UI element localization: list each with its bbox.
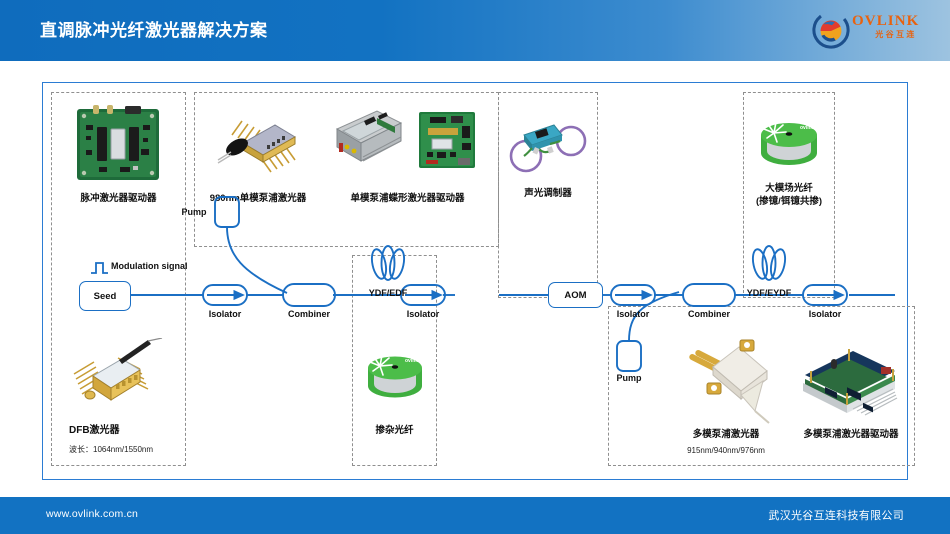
logo-english: OVLINK [852,13,938,29]
footer-website-url[interactable]: www.ovlink.com.cn [46,508,138,520]
ovlink-swirl-icon [812,11,850,49]
aom-label: AOM [564,290,586,301]
label-pulse-laser-driver: 脉冲激光器驱动器 [51,193,186,205]
gain-fiber-1-label: YDF/EDF [353,288,423,298]
svg-text:ovlink: ovlink [800,125,815,131]
gain-fiber-2-label: YDF/EYDF [734,288,804,298]
photo-acousto-optic-modulator [504,111,592,177]
svg-text:ovlink: ovlink [405,358,420,364]
logo-chinese: 光谷互连 [852,29,938,40]
isolator-3-label: Isolator [603,309,663,319]
photo-dfb-laser [70,338,170,416]
label-doped-fiber: 掺杂光纤 [352,425,437,437]
isolator-4-label: Isolator [795,309,855,319]
photo-pulse-laser-driver [75,105,161,183]
combiner-1-label: Combiner [275,309,343,319]
diagram-canvas: 脉冲激光器驱动器 [42,82,908,480]
label-large-mode-area-fiber: 大模场光纤 [743,183,835,195]
seed-box[interactable]: Seed [79,281,131,311]
brand-logo: OVLINK 光谷互连 [812,7,938,53]
label-acousto-optic-modulator: 声光调制器 [498,188,598,200]
footer-company-name: 武汉光谷互连科技有限公司 [768,507,904,523]
page-title: 直调脉冲光纤激光器解决方案 [40,16,268,41]
label-large-mode-area-fiber-doping: (掺镱/铒镱共掺) [743,196,835,208]
label-sm-pump-driver: 单模泵浦蝶形激光器驱动器 [325,193,490,205]
label-dfb-laser-wavelength: 波长：1064nm/1550nm [51,444,204,455]
pump-1-label: Pump [176,207,212,217]
pump-2-label: Pump [611,373,647,383]
combiner-2-label: Combiner [675,309,743,319]
photo-large-mode-area-fiber: ovlink [756,107,822,175]
logo-text: OVLINK 光谷互连 [852,13,938,40]
aom-box[interactable]: AOM [548,282,603,308]
label-dfb-laser: DFB激光器 [51,425,204,437]
photo-doped-fiber: ovlink [363,341,427,407]
photo-sm-pump-driver-pcb [418,111,476,169]
label-multimode-pump-wavelengths: 915nm/940nm/976nm [651,446,801,455]
isolator-2-label: Isolator [393,309,453,319]
label-multimode-pump-driver: 多模泵浦激光器驱动器 [781,429,921,441]
header-bar: 直调脉冲光纤激光器解决方案 OVLINK 光谷互连 [0,0,950,61]
photo-980nm-pump-laser [215,111,301,177]
photo-multimode-pump-driver [795,345,901,423]
photo-sm-pump-driver-module [331,107,405,173]
label-980nm-pump-laser: 980nm单模泵浦激光器 [193,193,323,205]
footer-bar: www.ovlink.com.cn 武汉光谷互连科技有限公司 [0,497,950,534]
isolator-1-label: Isolator [195,309,255,319]
seed-label: Seed [94,291,117,302]
slide-root: 直调脉冲光纤激光器解决方案 OVLINK 光谷互连 [0,0,950,534]
modulation-signal-label: Modulation signal [111,261,188,271]
photo-multimode-pump-laser [683,337,787,427]
label-multimode-pump-laser: 多模泵浦激光器 [651,429,801,441]
